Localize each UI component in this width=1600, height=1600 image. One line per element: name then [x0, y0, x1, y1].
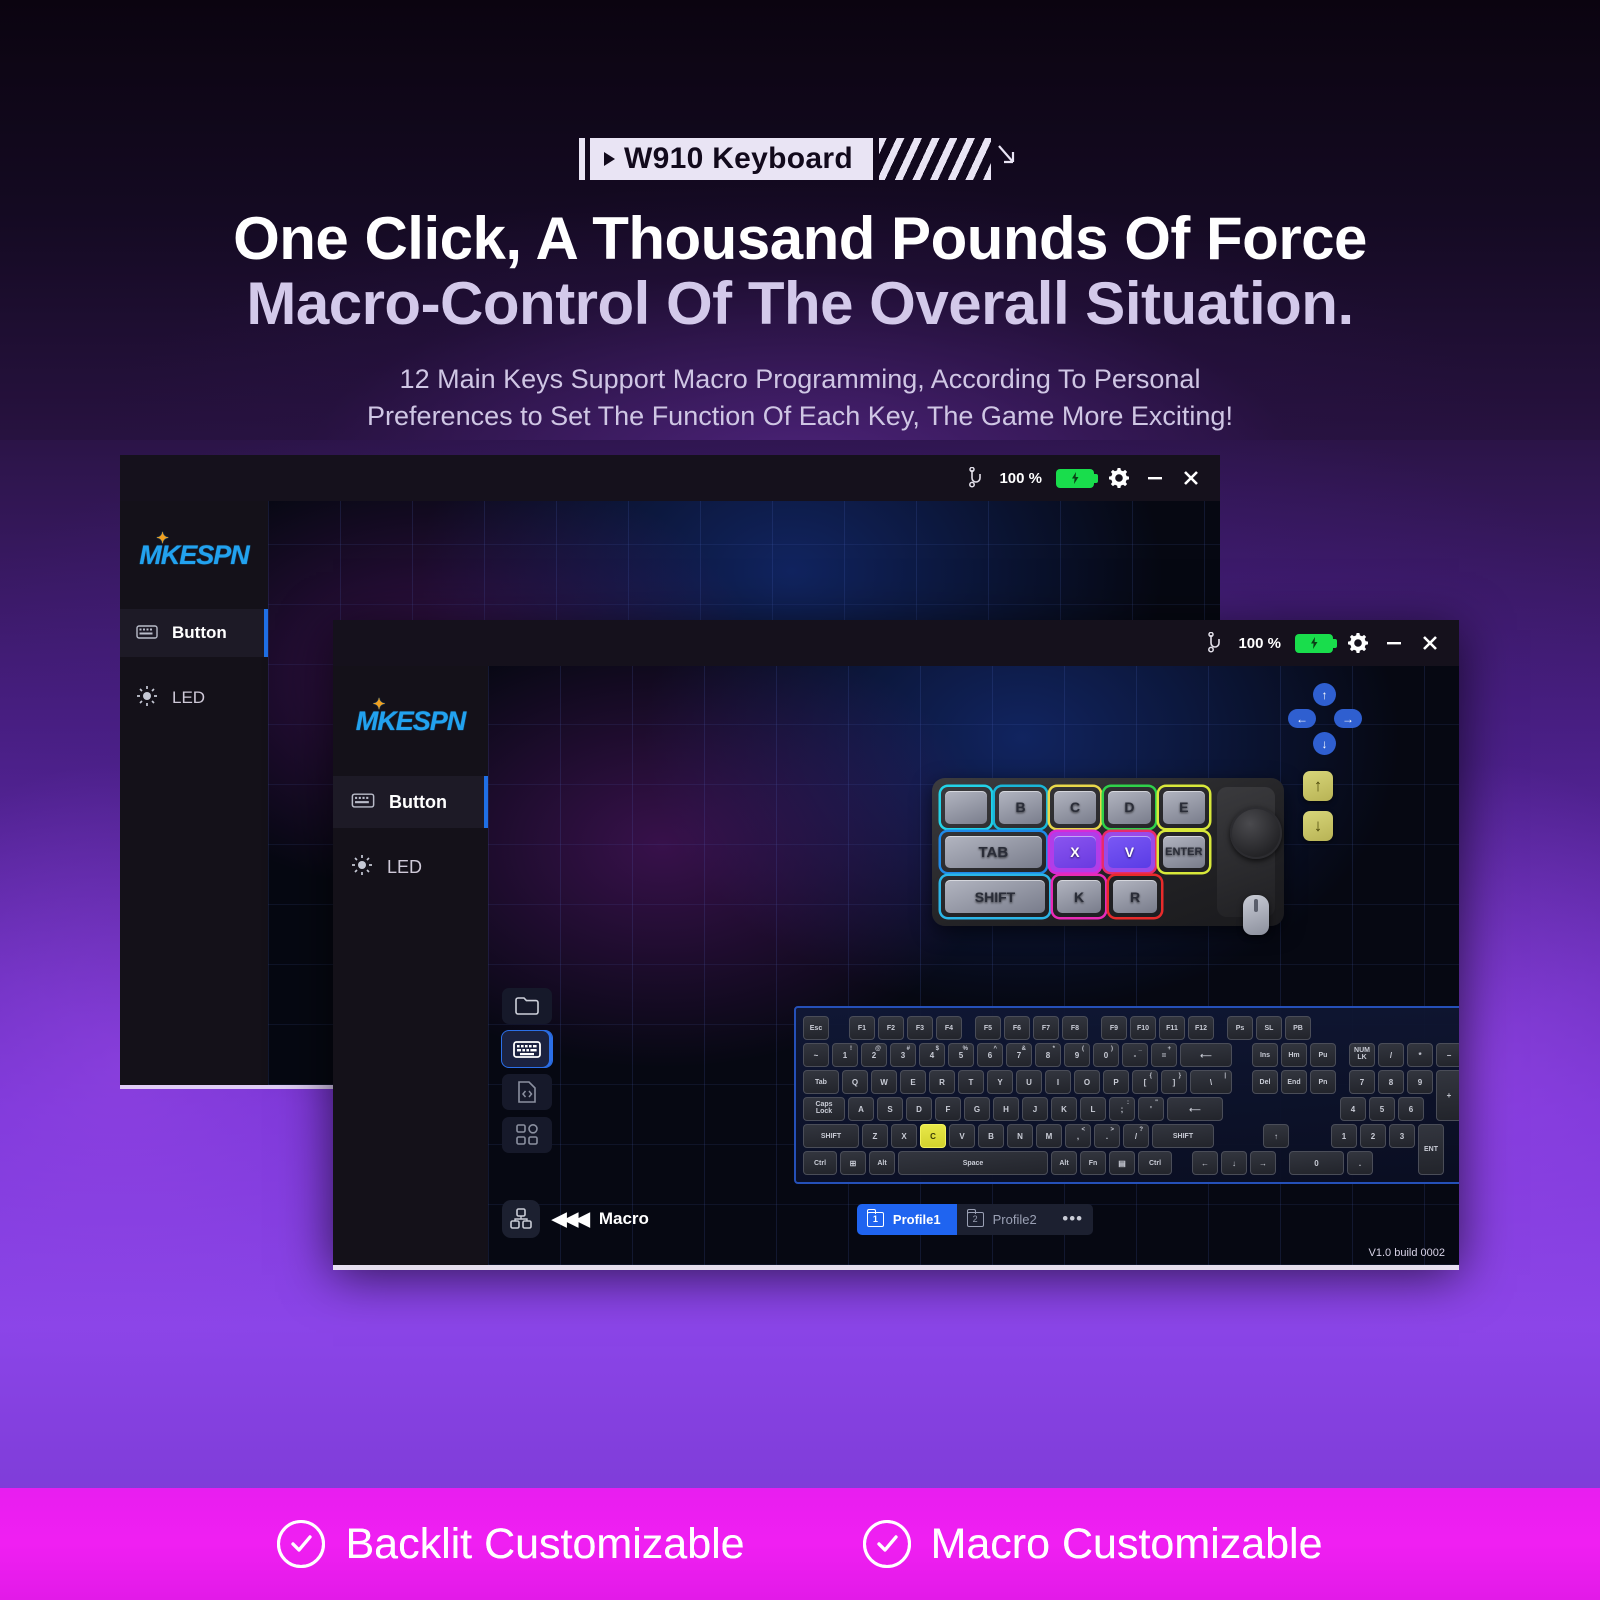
keyboard-icon[interactable]: [502, 1031, 552, 1067]
key-0[interactable]: 0): [1093, 1043, 1119, 1067]
titlebar-front: 100 %: [333, 620, 1459, 666]
macro-key-tab[interactable]: TAB: [941, 832, 1046, 873]
profile-2-label: Profile2: [993, 1212, 1037, 1227]
key-enter[interactable]: ⟵: [1167, 1097, 1223, 1121]
key-numpad-4[interactable]: 4: [1340, 1097, 1366, 1121]
macro-key-b[interactable]: B: [995, 787, 1045, 828]
key-arrow-down[interactable]: ↓: [1221, 1151, 1247, 1175]
macro-key-x[interactable]: X: [1050, 832, 1100, 873]
macro-key-x-cap: X: [1054, 836, 1096, 869]
key-s[interactable]: S: [877, 1097, 903, 1121]
key-bracket-left[interactable]: [{: [1132, 1070, 1158, 1094]
key-windows[interactable]: ⊞: [840, 1151, 866, 1175]
key-l[interactable]: L: [1080, 1097, 1106, 1121]
keyboard-row-home: CapsLockASDFGHJKL;:'"⟵ 456: [803, 1097, 1459, 1121]
key-i[interactable]: I: [1045, 1070, 1071, 1094]
key-a[interactable]: A: [848, 1097, 874, 1121]
key-numpad-6[interactable]: 6: [1398, 1097, 1424, 1121]
keyboard-row-shift: SHIFTZXCVBNM,<.>/?SHIFT ↑ 123ENT: [803, 1124, 1459, 1148]
sidebar-spacer-back: [120, 657, 268, 674]
sidebar-item-button-front[interactable]: Button: [333, 776, 488, 828]
scroll-up-button[interactable]: ↑: [1303, 771, 1333, 801]
keyboard-row-function: Esc F1F2F3F4 F5F6F7F8 F9F10F11F12 PsSLPB: [803, 1016, 1459, 1040]
key-pageup[interactable]: Pu: [1310, 1043, 1336, 1067]
key-3[interactable]: 3#: [890, 1043, 916, 1067]
sidebar-label-led-back: LED: [172, 688, 205, 708]
key-numpad-5[interactable]: 5: [1369, 1097, 1395, 1121]
key-tab[interactable]: Tab: [803, 1070, 839, 1094]
product-tag: W910 Keyboard: [579, 138, 1021, 180]
headline-line-2: Macro-Control Of The Overall Situation.: [0, 272, 1600, 337]
subtitle-line-1: 12 Main Keys Support Macro Programming, …: [0, 361, 1600, 398]
left-tool-rail: [502, 988, 552, 1153]
feature-banner-overlay: Backlit Customizable Macro Customizable: [0, 1488, 1600, 1600]
macro-back-arrows[interactable]: ◀◀◀: [552, 1208, 587, 1231]
key-z[interactable]: Z: [862, 1124, 888, 1148]
macro-key-r-cap: R: [1113, 880, 1157, 913]
key-j[interactable]: J: [1022, 1097, 1048, 1121]
key-m[interactable]: M: [1036, 1124, 1062, 1148]
subtitle-line-2: Preferences to Set The Function Of Each …: [0, 398, 1600, 435]
key-menu[interactable]: ▤: [1109, 1151, 1135, 1175]
key-esc[interactable]: Esc: [803, 1016, 829, 1040]
key-shift-left[interactable]: SHIFT: [803, 1124, 859, 1148]
brightness-icon: [136, 685, 158, 712]
key-printscreen[interactable]: Ps: [1227, 1016, 1253, 1040]
profile-selector: 1 Profile1 2 Profile2 •••: [857, 1204, 1093, 1235]
macro-label: Macro: [599, 1209, 649, 1229]
key-numpad-7[interactable]: 7: [1349, 1070, 1375, 1094]
subtitle: 12 Main Keys Support Macro Programming, …: [0, 361, 1600, 436]
sidebar-back: ✦MKESPN Button LED: [120, 501, 268, 1085]
macro-key-galaxy[interactable]: [941, 787, 991, 828]
minimize-icon[interactable]: [1144, 467, 1166, 489]
key-f9[interactable]: F9: [1101, 1016, 1127, 1040]
key-scrolllock[interactable]: SL: [1256, 1016, 1282, 1040]
hatch-decoration: [879, 138, 991, 180]
feature-backlit-label-2: Backlit Customizable: [345, 1520, 744, 1569]
macro-key-b-cap: B: [999, 791, 1041, 824]
battery-percent-front: 100 %: [1238, 635, 1281, 652]
macro-key-c-cap: C: [1054, 791, 1096, 824]
brand-logo-front: ✦MKESPN: [333, 666, 488, 776]
key-4[interactable]: 4$: [919, 1043, 945, 1067]
key-f1[interactable]: F1: [849, 1016, 875, 1040]
key-1[interactable]: 1!: [832, 1043, 858, 1067]
key-numpad-minus[interactable]: −: [1436, 1043, 1459, 1067]
dpad-left-button[interactable]: ←: [1288, 709, 1316, 728]
keyboard-row-qwerty: TabQWERTYUIOP[{]}\| DelEndPn 789+: [803, 1070, 1459, 1094]
key-numpad-3[interactable]: 3: [1389, 1124, 1415, 1148]
key-tilde[interactable]: ~: [803, 1043, 829, 1067]
macro-key-shift[interactable]: SHIFT: [941, 876, 1049, 917]
keyboard-icon: [136, 623, 158, 644]
key-comma[interactable]: ,<: [1065, 1124, 1091, 1148]
key-backslash[interactable]: \|: [1190, 1070, 1232, 1094]
key-arrow-left[interactable]: ←: [1192, 1151, 1218, 1175]
key-arrow-up[interactable]: ↑: [1263, 1124, 1289, 1148]
file-code-icon[interactable]: [502, 1074, 552, 1110]
key-v[interactable]: V: [949, 1124, 975, 1148]
key-numpad-plus[interactable]: +: [1436, 1070, 1459, 1121]
key-period[interactable]: .>: [1094, 1124, 1120, 1148]
direction-pad: ↑ ← → ↓: [1288, 683, 1362, 755]
key-k[interactable]: K: [1051, 1097, 1077, 1121]
window-front-shelf: [333, 1265, 1459, 1270]
key-q[interactable]: Q: [842, 1070, 868, 1094]
key-o[interactable]: O: [1074, 1070, 1100, 1094]
key-5[interactable]: 5%: [948, 1043, 974, 1067]
key-f10[interactable]: F10: [1130, 1016, 1156, 1040]
macro-key-shift-cap: SHIFT: [945, 880, 1045, 913]
full-keyboard-map[interactable]: Esc F1F2F3F4 F5F6F7F8 F9F10F11F12 PsSLPB…: [794, 1006, 1459, 1184]
macro-pad-row-2: TAB X V ENTER: [941, 832, 1209, 873]
tag-box: W910 Keyboard: [590, 138, 873, 180]
key-9[interactable]: 9(: [1064, 1043, 1090, 1067]
key-minus[interactable]: -_: [1122, 1043, 1148, 1067]
key-semicolon[interactable]: ;:: [1109, 1097, 1135, 1121]
sidebar-item-led-front[interactable]: LED: [333, 841, 488, 893]
key-r[interactable]: R: [929, 1070, 955, 1094]
profile-more-button[interactable]: •••: [1053, 1204, 1093, 1235]
dpad-right-button[interactable]: →: [1334, 709, 1362, 728]
sidebar-spacer-front: [333, 828, 488, 841]
key-quote[interactable]: '": [1138, 1097, 1164, 1121]
logo-text-back: ✦MKESPN: [139, 540, 249, 571]
key-bracket-right[interactable]: ]}: [1161, 1070, 1187, 1094]
gear-icon[interactable]: [1347, 632, 1369, 654]
key-numpad-0[interactable]: 0: [1289, 1151, 1344, 1175]
key-fn[interactable]: Fn: [1080, 1151, 1106, 1175]
macro-key-c[interactable]: C: [1050, 787, 1100, 828]
key-slash[interactable]: /?: [1123, 1124, 1149, 1148]
key-alt-right[interactable]: Alt: [1051, 1151, 1077, 1175]
key-delete[interactable]: Del: [1252, 1070, 1278, 1094]
key-numpad-decimal[interactable]: .: [1347, 1151, 1373, 1175]
header: W910 Keyboard One Click, A Thousand Poun…: [0, 0, 1600, 435]
macro-key-e[interactable]: E: [1159, 787, 1209, 828]
minimize-icon[interactable]: [1383, 632, 1405, 654]
key-b[interactable]: B: [978, 1124, 1004, 1148]
key-numpad-divide[interactable]: /: [1378, 1043, 1404, 1067]
arrow-down-right-icon: [995, 138, 1021, 180]
tag-label: W910 Keyboard: [624, 142, 853, 176]
macro-pad-device[interactable]: B C D E TAB X V ENTER SHIFT K R: [932, 778, 1284, 926]
key-space[interactable]: Space: [898, 1151, 1048, 1175]
key-numlock[interactable]: NUMLK: [1349, 1043, 1375, 1067]
keyboard-icon: [351, 791, 375, 813]
battery-percent-back: 100 %: [999, 470, 1042, 487]
key-c-highlighted[interactable]: C: [920, 1124, 946, 1148]
app-window-front[interactable]: 100 % ✦MKESPN Button: [333, 620, 1459, 1265]
key-e[interactable]: E: [900, 1070, 926, 1094]
key-f12[interactable]: F12: [1188, 1016, 1214, 1040]
key-pausebreak[interactable]: PB: [1285, 1016, 1311, 1040]
joystick-knob[interactable]: [1230, 807, 1282, 859]
key-f5[interactable]: F5: [975, 1016, 1001, 1040]
battery-charging-icon: [1056, 469, 1094, 488]
feature-macro-label-2: Macro Customizable: [931, 1520, 1323, 1569]
grid-apps-icon[interactable]: [502, 1117, 552, 1153]
key-alt-left[interactable]: Alt: [869, 1151, 895, 1175]
key-f7[interactable]: F7: [1033, 1016, 1059, 1040]
key-shift-right[interactable]: SHIFT: [1152, 1124, 1214, 1148]
sidebar-item-led-back[interactable]: LED: [120, 674, 268, 722]
key-f11[interactable]: F11: [1159, 1016, 1185, 1040]
macro-key-v[interactable]: V: [1104, 832, 1154, 873]
key-f2[interactable]: F2: [878, 1016, 904, 1040]
key-ctrl-left[interactable]: Ctrl: [803, 1151, 837, 1175]
key-pagedown[interactable]: Pn: [1310, 1070, 1336, 1094]
key-numpad-8[interactable]: 8: [1378, 1070, 1404, 1094]
key-2[interactable]: 2@: [861, 1043, 887, 1067]
dpad-up-button[interactable]: ↑: [1313, 683, 1336, 706]
macro-pad-row-3: SHIFT K R: [941, 876, 1209, 917]
sidebar-label-button-back: Button: [172, 623, 227, 643]
key-backspace[interactable]: ⟵: [1180, 1043, 1232, 1067]
sidebar-label-led-front: LED: [387, 857, 422, 878]
key-numpad-multiply[interactable]: *: [1407, 1043, 1433, 1067]
logo-spark-icon: ✦: [156, 529, 168, 547]
key-numpad-9[interactable]: 9: [1407, 1070, 1433, 1094]
profile-1-button[interactable]: 1 Profile1: [857, 1204, 957, 1235]
usb-cable-icon: [967, 467, 985, 489]
macro-pad-keys: B C D E TAB X V ENTER SHIFT K R: [941, 787, 1209, 917]
key-d[interactable]: D: [906, 1097, 932, 1121]
macro-key-v-cap: V: [1108, 836, 1150, 869]
profile-1-label: Profile1: [893, 1212, 941, 1227]
key-n[interactable]: N: [1007, 1124, 1033, 1148]
key-7[interactable]: 7&: [1006, 1043, 1032, 1067]
key-f6[interactable]: F6: [1004, 1016, 1030, 1040]
key-home[interactable]: Hm: [1281, 1043, 1307, 1067]
page-title: One Click, A Thousand Pounds Of Force Ma…: [0, 207, 1600, 337]
key-w[interactable]: W: [871, 1070, 897, 1094]
macro-pad-row-1: B C D E: [941, 787, 1209, 828]
key-equals[interactable]: =+: [1151, 1043, 1177, 1067]
sidebar-front: ✦MKESPN Button LED: [333, 666, 488, 1265]
macro-key-enter[interactable]: ENTER: [1159, 832, 1209, 873]
sidebar-label-button-front: Button: [389, 792, 447, 813]
key-insert[interactable]: Ins: [1252, 1043, 1278, 1067]
version-label: V1.0 build 0002: [1369, 1247, 1445, 1259]
close-icon[interactable]: [1419, 632, 1441, 654]
key-f4[interactable]: F4: [936, 1016, 962, 1040]
profile-2-button[interactable]: 2 Profile2: [957, 1204, 1053, 1235]
macro-key-enter-cap: ENTER: [1163, 836, 1205, 869]
key-arrow-right[interactable]: →: [1250, 1151, 1276, 1175]
key-8[interactable]: 8*: [1035, 1043, 1061, 1067]
window-body-front: ✦MKESPN Button LED: [333, 666, 1459, 1265]
macro-key-k-cap: K: [1057, 880, 1101, 913]
macro-key-e-cap: E: [1163, 791, 1205, 824]
key-h[interactable]: H: [993, 1097, 1019, 1121]
key-6[interactable]: 6^: [977, 1043, 1003, 1067]
tag-accent-bar: [579, 138, 585, 180]
macro-key-r[interactable]: R: [1109, 876, 1161, 917]
profile-2-number: 2: [967, 1212, 984, 1227]
macro-pad-right-module: [1217, 787, 1275, 917]
macro-nodes-icon[interactable]: [502, 1200, 540, 1238]
brand-logo-back: ✦MKESPN: [120, 501, 268, 609]
mouse-icon: [1243, 895, 1269, 935]
keyboard-row-numbers: ~1!2@3#4$5%6^7&8*9(0)-_=+⟵ InsHmPu NUMLK…: [803, 1043, 1459, 1067]
dpad-down-button[interactable]: ↓: [1313, 732, 1336, 755]
sidebar-item-button-back[interactable]: Button: [120, 609, 268, 657]
key-x[interactable]: X: [891, 1124, 917, 1148]
close-icon[interactable]: [1180, 467, 1202, 489]
key-u[interactable]: U: [1016, 1070, 1042, 1094]
brightness-icon: [351, 854, 373, 881]
key-f8[interactable]: F8: [1062, 1016, 1088, 1040]
key-capslock[interactable]: CapsLock: [803, 1097, 845, 1121]
key-numpad-1[interactable]: 1: [1331, 1124, 1357, 1148]
bottom-toolbar: ◀◀◀ Macro 1 Profile1 2 Profile2 •••: [488, 1199, 1459, 1239]
usb-cable-icon: [1206, 632, 1224, 654]
key-t[interactable]: T: [958, 1070, 984, 1094]
stage-front: B C D E TAB X V ENTER SHIFT K R: [488, 666, 1459, 1265]
play-triangle-icon: [604, 152, 615, 166]
gear-icon[interactable]: [1108, 467, 1130, 489]
key-p[interactable]: P: [1103, 1070, 1129, 1094]
check-circle-icon: [863, 1520, 911, 1568]
folder-icon[interactable]: [502, 988, 552, 1024]
macro-key-d[interactable]: D: [1104, 787, 1154, 828]
key-f3[interactable]: F3: [907, 1016, 933, 1040]
battery-charging-icon: [1295, 634, 1333, 653]
key-numpad-enter[interactable]: ENT: [1418, 1124, 1444, 1175]
check-circle-icon: [277, 1520, 325, 1568]
macro-key-tab-cap: TAB: [945, 836, 1042, 869]
key-end[interactable]: End: [1281, 1070, 1307, 1094]
titlebar-back: 100 %: [120, 455, 1220, 501]
key-ctrl-right[interactable]: Ctrl: [1138, 1151, 1172, 1175]
key-y[interactable]: Y: [987, 1070, 1013, 1094]
key-numpad-2[interactable]: 2: [1360, 1124, 1386, 1148]
feature-macro-2: Macro Customizable: [863, 1520, 1323, 1569]
logo-spark-icon: ✦: [373, 695, 385, 713]
macro-key-k[interactable]: K: [1053, 876, 1105, 917]
macro-key-galaxy-cap: [945, 791, 987, 824]
keyboard-row-bottom: Ctrl⊞AltSpaceAltFn▤Ctrl ←↓→ 0.: [803, 1151, 1459, 1175]
profile-1-number: 1: [867, 1212, 884, 1227]
feature-backlit-2: Backlit Customizable: [277, 1520, 744, 1569]
logo-text-front: ✦MKESPN: [356, 706, 466, 737]
scroll-down-button[interactable]: ↓: [1303, 811, 1333, 841]
key-g[interactable]: G: [964, 1097, 990, 1121]
key-f[interactable]: F: [935, 1097, 961, 1121]
macro-key-d-cap: D: [1108, 791, 1150, 824]
headline-line-1: One Click, A Thousand Pounds Of Force: [233, 205, 1367, 272]
